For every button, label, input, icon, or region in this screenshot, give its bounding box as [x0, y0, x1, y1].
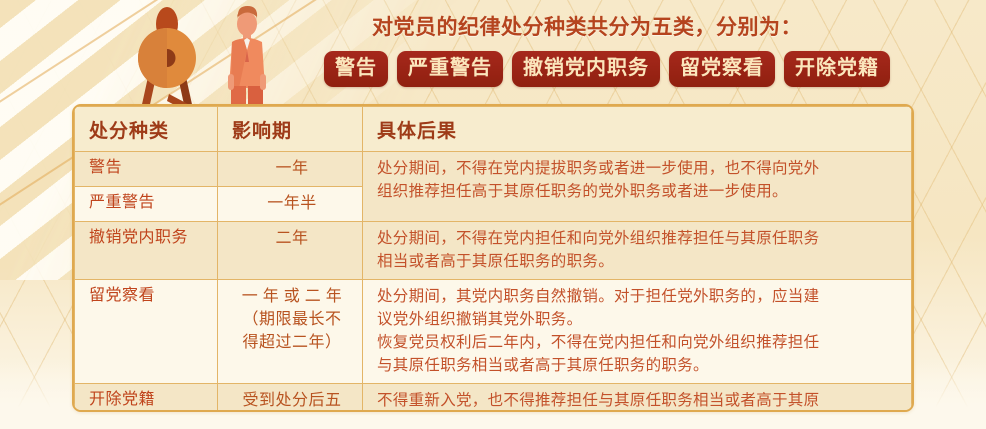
cell-result-revoke-post: 处分期间，不得在党内担任和向党外组织推荐担任与其原任职务 相当或者高于其原任职务… — [363, 222, 912, 280]
cell-type-expulsion: 开除党籍 — [75, 384, 218, 413]
cell-type-serious-warning: 严重警告 — [75, 187, 218, 222]
table-row: 开除党籍 受到处分后五 年 不得重新入党，也不得推荐担任与其原任职务相当或者高于… — [75, 384, 912, 413]
badge-revoke-party-post[interactable]: 撤销党内职务 — [512, 51, 660, 87]
badge-expulsion[interactable]: 开除党籍 — [784, 51, 890, 87]
compass-icon — [138, 7, 203, 118]
period-line: 一 年 或 二 年 — [232, 285, 352, 308]
result-line: 组织推荐担任高于其原任职务的党外职务或者进一步使用。 — [377, 180, 901, 203]
period-line: 受到处分后五 — [232, 389, 352, 412]
cell-period-warning: 一年 — [218, 152, 363, 187]
cell-result-warning-group: 处分期间，不得在党内提拔职务或者进一步使用，也不得向党外 组织推荐担任高于其原任… — [363, 152, 912, 222]
period-line: 二年 — [232, 227, 352, 250]
period-line: 一年半 — [232, 192, 352, 215]
period-line: （期限最长不 — [232, 308, 352, 331]
discipline-badge-row: 警告 严重警告 撤销党内职务 留党察看 开除党籍 — [324, 51, 890, 87]
column-header-result: 具体后果 — [363, 107, 912, 152]
cell-type-probation: 留党察看 — [75, 280, 218, 384]
result-line: 处分期间，不得在党内提拔职务或者进一步使用，也不得向党外 — [377, 157, 901, 180]
result-line: 处分期间，不得在党内担任和向党外组织推荐担任与其原任职务 — [377, 227, 901, 250]
badge-warning[interactable]: 警告 — [324, 51, 388, 87]
period-line: 一年 — [232, 157, 352, 180]
result-line: 恢复党员权利后二年内，不得在党内担任和向党外组织推荐担任 — [377, 331, 901, 354]
table-row: 撤销党内职务 二年 处分期间，不得在党内担任和向党外组织推荐担任与其原任职务 相… — [75, 222, 912, 280]
result-line: 议党外组织撤销其党外职务。 — [377, 308, 901, 331]
table-row: 留党察看 一 年 或 二 年 （期限最长不 得超过二年） 处分期间，其党内职务自… — [75, 280, 912, 384]
cell-type-warning: 警告 — [75, 152, 218, 187]
infographic-canvas: 对党员的纪律处分种类共分为五类，分别为： 警告 严重警告 撤销党内职务 留党察看… — [0, 0, 986, 429]
cell-result-probation: 处分期间，其党内职务自然撤销。对于担任党外职务的，应当建 议党外组织撤销其党外职… — [363, 280, 912, 384]
cell-result-expulsion: 不得重新入党，也不得推荐担任与其原任职务相当或者高于其原 任职务的党外职务。 — [363, 384, 912, 413]
column-header-period: 影响期 — [218, 107, 363, 152]
result-line: 处分期间，其党内职务自然撤销。对于担任党外职务的，应当建 — [377, 285, 901, 308]
cell-period-revoke-post: 二年 — [218, 222, 363, 280]
page-title: 对党员的纪律处分种类共分为五类，分别为： — [372, 12, 972, 42]
table-header-row: 处分种类 影响期 具体后果 — [75, 107, 912, 152]
column-header-type: 处分种类 — [75, 107, 218, 152]
cell-period-expulsion: 受到处分后五 年 — [218, 384, 363, 413]
result-line: 相当或者高于其原任职务的职务。 — [377, 250, 901, 273]
badge-probation[interactable]: 留党察看 — [669, 51, 775, 87]
table-row: 警告 一年 处分期间，不得在党内提拔职务或者进一步使用，也不得向党外 组织推荐担… — [75, 152, 912, 187]
person-icon — [228, 6, 266, 118]
cell-type-revoke-post: 撤销党内职务 — [75, 222, 218, 280]
cell-period-serious-warning: 一年半 — [218, 187, 363, 222]
period-line: 得超过二年） — [232, 331, 352, 354]
result-line: 与其原任职务相当或者高于其原任职务的职务。 — [377, 354, 901, 377]
badge-serious-warning[interactable]: 严重警告 — [397, 51, 503, 87]
result-line: 不得重新入党，也不得推荐担任与其原任职务相当或者高于其原 — [377, 389, 901, 412]
cell-period-probation: 一 年 或 二 年 （期限最长不 得超过二年） — [218, 280, 363, 384]
discipline-table: 处分种类 影响期 具体后果 警告 一年 处分期间，不得在党内提拔职务或者进一步使… — [72, 104, 914, 412]
